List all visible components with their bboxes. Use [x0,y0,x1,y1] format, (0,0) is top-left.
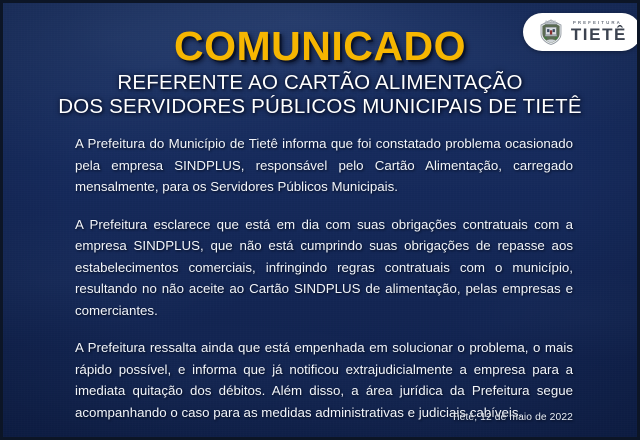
communique-poster: PREFEITURA TIETÊ COMUNICADO REFERENTE AO… [0,0,640,440]
body-paragraph-3: A Prefeitura ressalta ainda que está emp… [75,337,573,423]
poster-title: COMUNICADO [3,23,637,70]
body-paragraph-2: A Prefeitura esclarece que está em dia c… [75,214,573,322]
body-paragraph-1: A Prefeitura do Município de Tietê infor… [75,133,573,198]
signoff-date: Tietê, 12 de maio de 2022 [451,412,573,423]
poster-subtitle: REFERENTE AO CARTÃO ALIMENTAÇÃO DOS SERV… [3,71,637,119]
poster-subtitle-line-2: DOS SERVIDORES PÚBLICOS MUNICIPAIS DE TI… [3,95,637,119]
poster-subtitle-line-1: REFERENTE AO CARTÃO ALIMENTAÇÃO [3,71,637,95]
body-copy: A Prefeitura do Município de Tietê infor… [75,133,573,423]
poster-content: PREFEITURA TIETÊ COMUNICADO REFERENTE AO… [3,3,637,437]
